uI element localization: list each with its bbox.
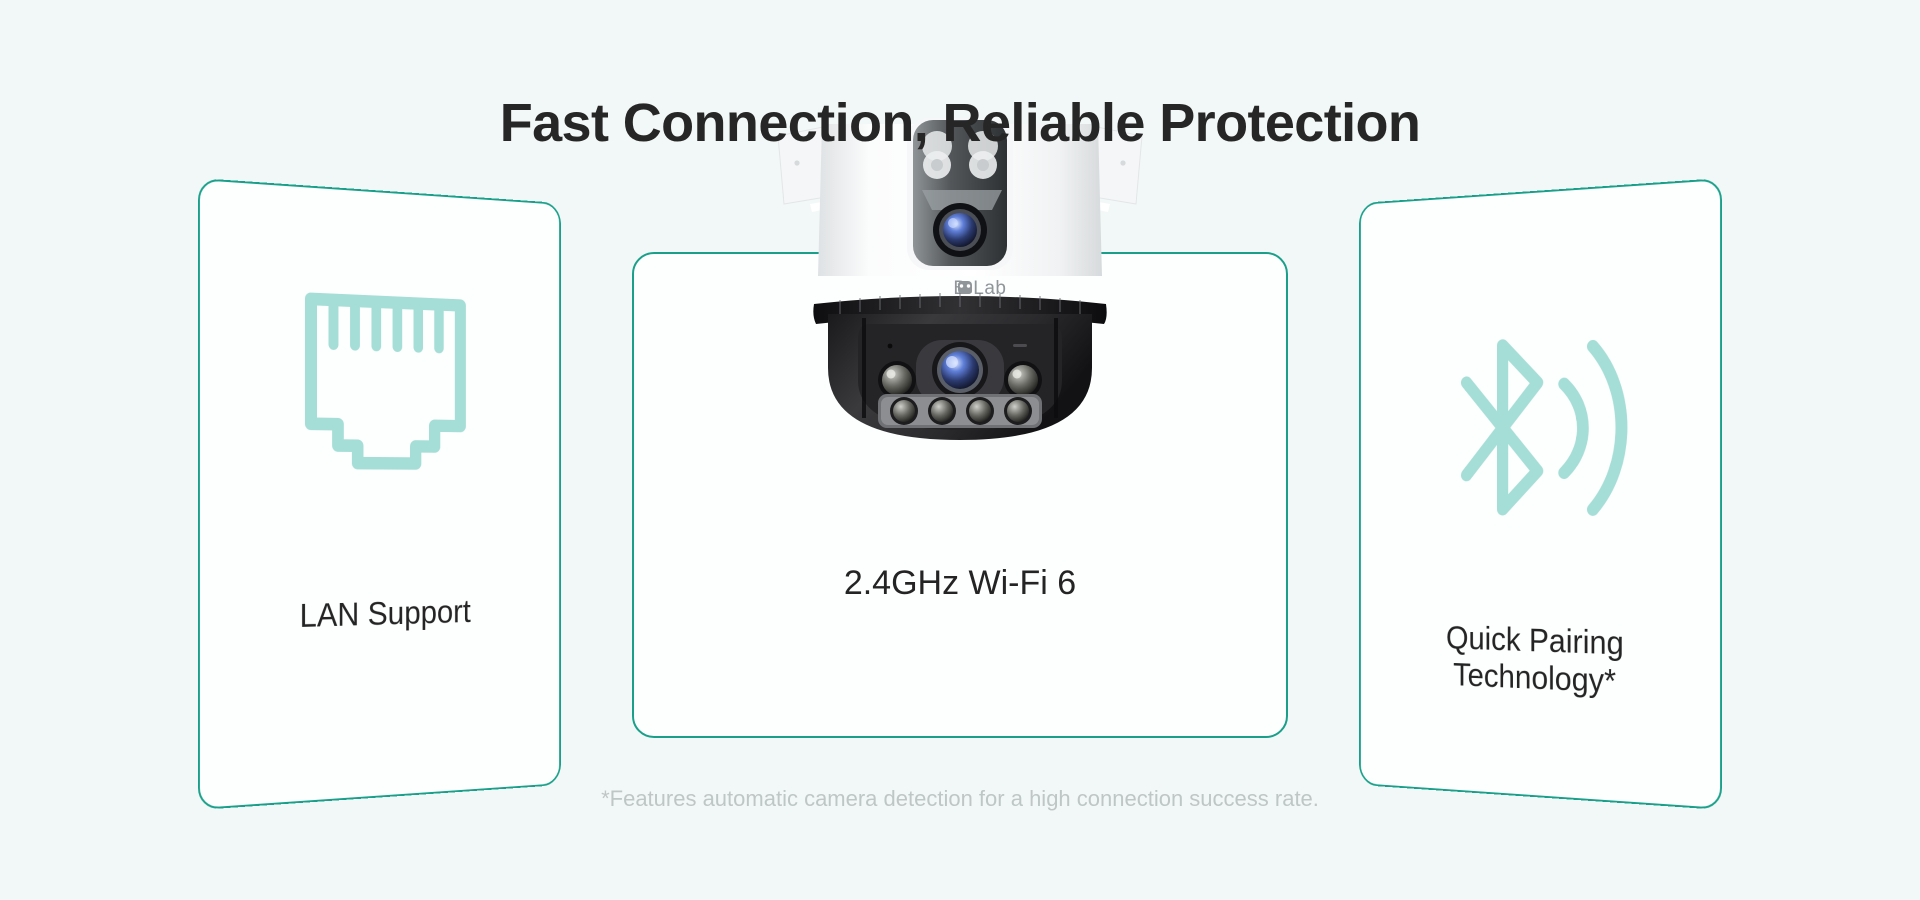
camera-dome	[828, 314, 1092, 440]
feature-card-bluetooth-label: Quick Pairing Technology*	[1446, 620, 1624, 702]
feature-card-lan-content: LAN Support	[200, 180, 559, 808]
bluetooth-icon	[1434, 331, 1636, 527]
bluetooth-icon-wrap	[1434, 331, 1636, 527]
footnote-text: *Features automatic camera detection for…	[0, 786, 1920, 812]
feature-card-bluetooth: Quick Pairing Technology*	[1359, 178, 1722, 810]
feature-card-wifi-label: 2.4GHz Wi-Fi 6	[634, 564, 1286, 603]
product-image-camera: B tsLab	[770, 118, 1150, 448]
ethernet-port-icon	[293, 277, 478, 483]
feature-card-bluetooth-content: Quick Pairing Technology*	[1361, 180, 1720, 808]
feature-card-lan-label: LAN Support	[300, 594, 471, 637]
promo-banner: LAN Support 2.4GHz Wi-Fi 6 Quick Pairing…	[0, 0, 1920, 900]
ethernet-port-icon-wrap	[293, 277, 478, 483]
page-title: Fast Connection, Reliable Protection	[0, 92, 1920, 154]
feature-card-lan: LAN Support	[198, 178, 561, 810]
